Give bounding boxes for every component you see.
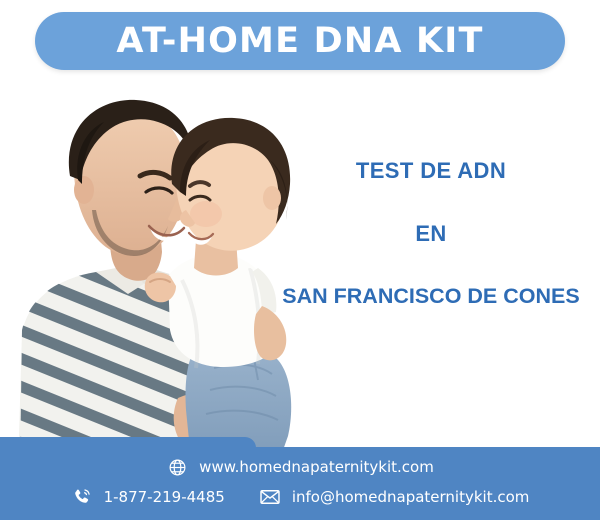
footer-contact-bar: www.homednapaternitykit.com 1-877-219-44…	[0, 447, 600, 520]
headline-line-2: EN	[262, 223, 600, 245]
page-title: AT-HOME DNA KIT	[116, 24, 483, 59]
phone-text: 1-877-219-4485	[104, 490, 225, 505]
email-text: info@homednapaternitykit.com	[292, 490, 530, 505]
footer-row-phone-email: 1-877-219-4485 info@homednapaternitykit.…	[0, 485, 600, 509]
phone-icon	[71, 486, 93, 508]
footer-row-website: www.homednapaternitykit.com	[0, 456, 600, 478]
contact-email[interactable]: info@homednapaternitykit.com	[259, 486, 530, 508]
header-banner: AT-HOME DNA KIT	[35, 12, 565, 70]
website-text: www.homednapaternitykit.com	[199, 460, 434, 475]
contact-phone[interactable]: 1-877-219-4485	[71, 486, 225, 508]
poster-canvas: AT-HOME DNA KIT	[0, 0, 600, 520]
headline-block: TEST DE ADN EN SAN FRANCISCO DE CONES	[262, 160, 600, 308]
contact-website[interactable]: www.homednapaternitykit.com	[166, 456, 434, 478]
envelope-icon	[259, 486, 281, 508]
headline-line-1: TEST DE ADN	[262, 160, 600, 182]
globe-icon	[166, 456, 188, 478]
headline-line-3: SAN FRANCISCO DE CONES	[262, 286, 600, 308]
